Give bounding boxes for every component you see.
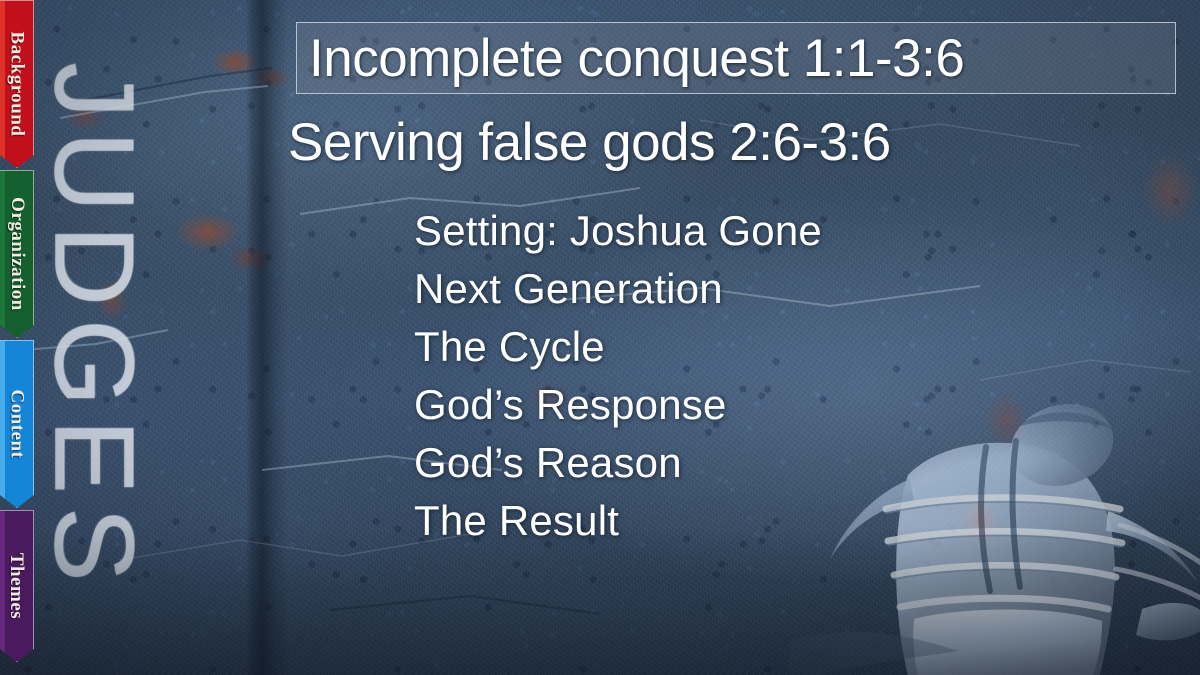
list-item: God’s Reason xyxy=(414,434,822,492)
nav-tab-themes[interactable]: Themes xyxy=(0,510,34,662)
nav-tab-background-label: Background xyxy=(6,32,28,137)
slide-title-box: Incomplete conquest 1:1-3:6 xyxy=(296,22,1176,94)
navigation-tab-strip: Background Organization Content Themes xyxy=(0,0,42,675)
nav-tab-background[interactable]: Background xyxy=(0,0,34,168)
nav-tab-themes-label: Themes xyxy=(6,553,28,619)
slide-subtitle: Serving false gods 2:6-3:6 xyxy=(288,116,891,169)
nav-tab-edge-highlight xyxy=(0,171,5,337)
nav-tab-content[interactable]: Content xyxy=(0,340,34,508)
list-item: Next Generation xyxy=(414,260,822,318)
nav-tab-edge-highlight xyxy=(0,1,5,167)
presentation-slide: JUDGES Background Organization Content T… xyxy=(0,0,1200,675)
list-item: The Result xyxy=(414,492,822,550)
slide-bullet-list: Setting: Joshua Gone Next Generation The… xyxy=(414,202,822,550)
nav-tab-content-label: Content xyxy=(6,390,28,459)
nav-tab-edge-highlight xyxy=(0,341,5,507)
list-item: God’s Response xyxy=(414,376,822,434)
nav-tab-organization[interactable]: Organization xyxy=(0,170,34,338)
nav-tab-organization-label: Organization xyxy=(6,197,28,311)
list-item: The Cycle xyxy=(414,318,822,376)
nav-tab-edge-highlight xyxy=(0,511,5,661)
slide-title: Incomplete conquest 1:1-3:6 xyxy=(297,32,964,85)
list-item: Setting: Joshua Gone xyxy=(414,202,822,260)
